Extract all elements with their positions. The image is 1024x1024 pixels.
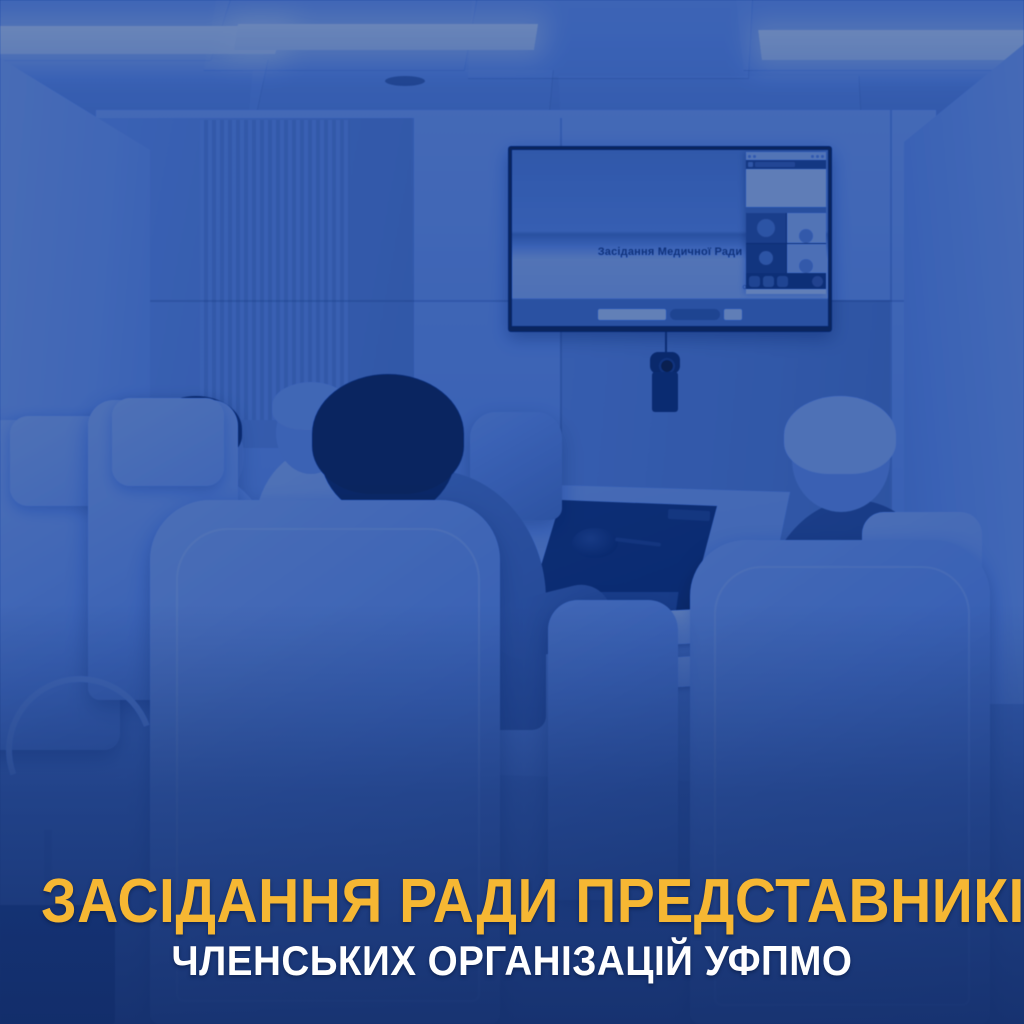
caption-block: ЗАСІДАННЯ РАДИ ПРЕДСТАВНИКІВ ЧЛЕНСЬКИХ О… bbox=[0, 872, 1024, 984]
poster-canvas: Засідання Медичної Ради 25 січня 2024 р.… bbox=[0, 0, 1024, 1024]
headline-secondary: ЧЛЕНСЬКИХ ОРГАНІЗАЦІЙ УФПМО bbox=[41, 938, 983, 984]
headline-primary: ЗАСІДАННЯ РАДИ ПРЕДСТАВНИКІВ bbox=[41, 872, 983, 932]
